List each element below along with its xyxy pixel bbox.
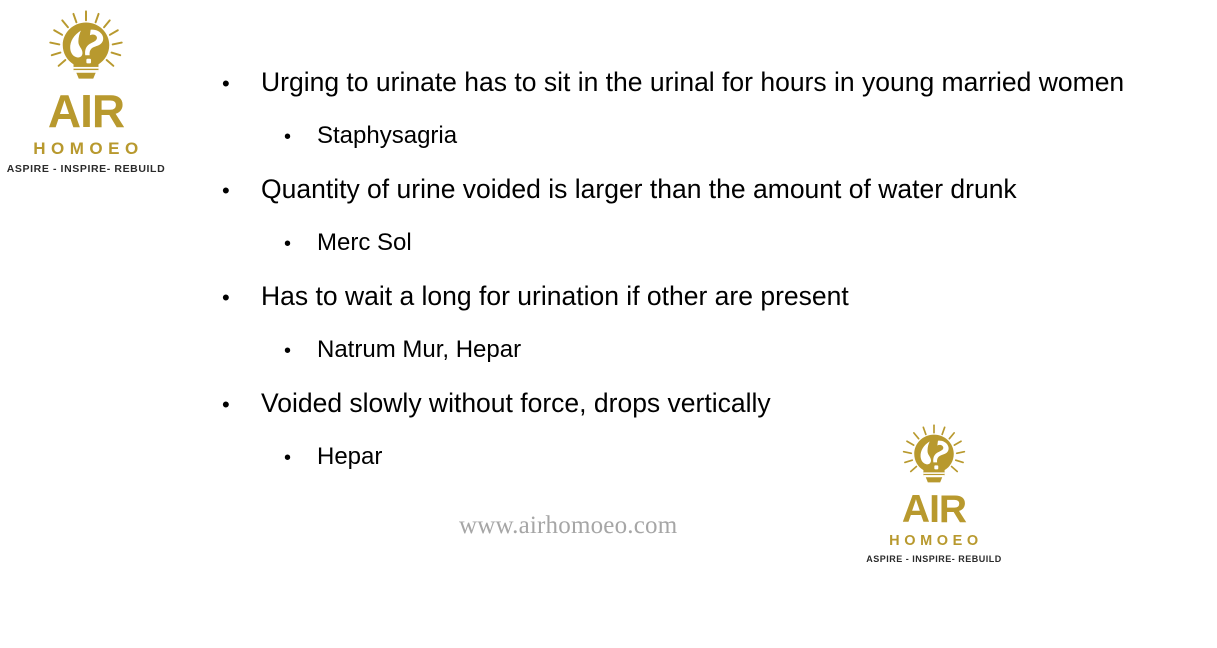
list-item: • Hepar (222, 431, 1182, 484)
brand-wordmark: AIR (902, 490, 966, 529)
bullet-list: • Urging to urinate has to sit in the ur… (222, 56, 1182, 484)
brand-subword: HOMOEO (28, 140, 143, 157)
bullet-marker-icon: • (222, 58, 261, 110)
brand-tagline: ASPIRE - INSPIRE- REBUILD (7, 164, 166, 175)
list-item-text: Staphysagria (317, 110, 1182, 162)
list-item-text: Urging to urinate has to sit in the urin… (261, 56, 1182, 108)
list-item: • Natrum Mur, Hepar (222, 324, 1182, 377)
list-item: • Voided slowly without force, drops ver… (222, 377, 1182, 431)
lightbulb-icon (39, 10, 133, 90)
list-item: • Merc Sol (222, 217, 1182, 270)
list-item: • Has to wait a long for urination if ot… (222, 270, 1182, 324)
list-item-text: Voided slowly without force, drops verti… (261, 377, 1182, 429)
list-item-text: Natrum Mur, Hepar (317, 324, 1182, 376)
brand-tagline: ASPIRE - INSPIRE- REBUILD (866, 555, 1002, 564)
website-watermark: www.airhomoeo.com (459, 512, 677, 540)
slide-canvas: AIR HOMOEO ASPIRE - INSPIRE- REBUILD • U… (0, 0, 1217, 648)
brand-subword: HOMOEO (885, 534, 983, 549)
brand-logo-top-left: AIR HOMOEO ASPIRE - INSPIRE- REBUILD (6, 10, 166, 175)
bullet-marker-icon: • (284, 325, 317, 377)
lightbulb-icon (894, 424, 974, 492)
bullet-marker-icon: • (222, 379, 261, 431)
brand-wordmark: AIR (48, 88, 124, 134)
list-item-text: Has to wait a long for urination if othe… (261, 270, 1182, 322)
brand-logo-bottom-right: AIR HOMOEO ASPIRE - INSPIRE- REBUILD (866, 424, 1002, 564)
list-item: • Quantity of urine voided is larger tha… (222, 163, 1182, 217)
list-item: • Urging to urinate has to sit in the ur… (222, 56, 1182, 110)
bullet-marker-icon: • (284, 218, 317, 270)
bullet-marker-icon: • (284, 111, 317, 163)
bullet-marker-icon: • (284, 432, 317, 484)
list-item: • Staphysagria (222, 110, 1182, 163)
bullet-marker-icon: • (222, 165, 261, 217)
list-item-text: Hepar (317, 431, 1182, 483)
bullet-marker-icon: • (222, 272, 261, 324)
list-item-text: Quantity of urine voided is larger than … (261, 163, 1182, 215)
list-item-text: Merc Sol (317, 217, 1182, 269)
